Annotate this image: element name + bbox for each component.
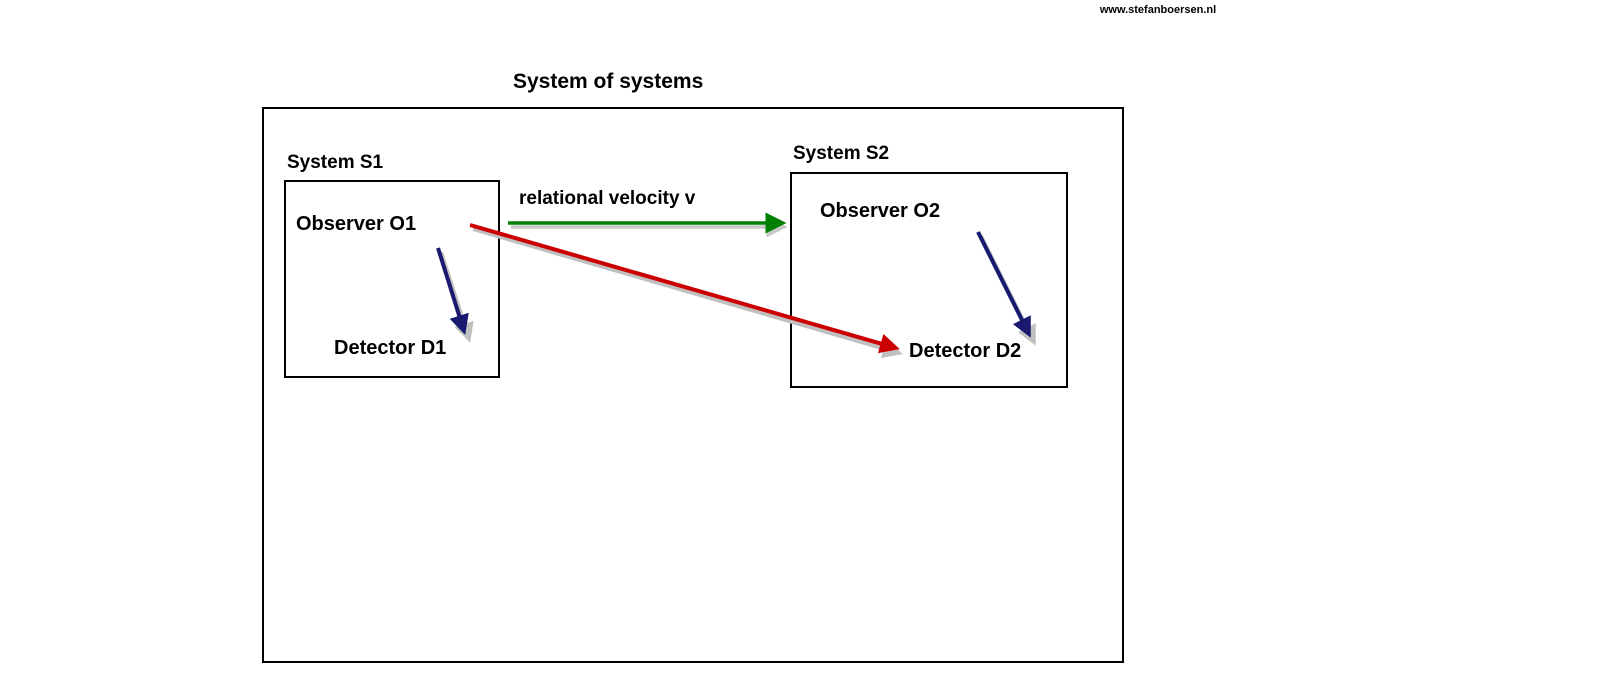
site-watermark: www.stefanboersen.nl [1068, 4, 1248, 16]
node-label-observer-o1: Observer O1 [296, 213, 416, 236]
system-label-s2: System S2 [793, 143, 889, 165]
system-label-s1: System S1 [287, 152, 383, 174]
node-label-observer-o2: Observer O2 [820, 200, 940, 223]
node-label-detector-d2: Detector D2 [909, 340, 1021, 363]
node-label-detector-d1: Detector D1 [334, 337, 446, 360]
edge-label-relational-velocity: relational velocity v [519, 188, 695, 210]
diagram-title: System of systems [513, 70, 703, 94]
